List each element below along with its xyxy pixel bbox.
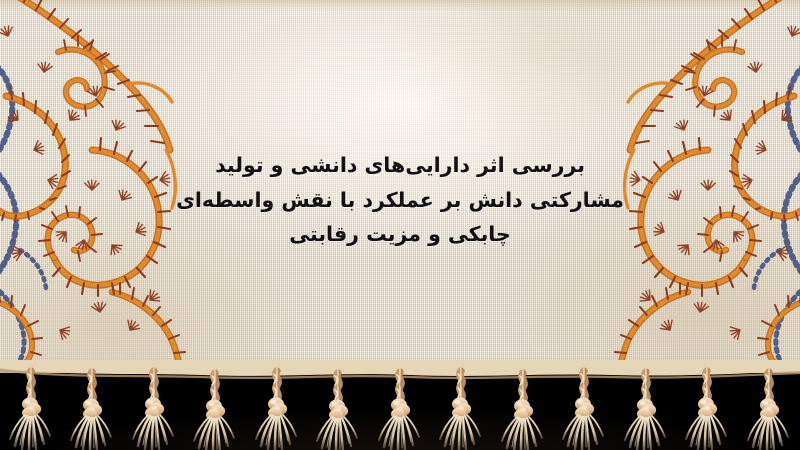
title-line-3: چابکی و مزیت رقابتی (0, 217, 800, 252)
tassel-row (10, 371, 788, 450)
title-line-1: بررسی اثر دارایی‌های دانشی و تولید (0, 148, 800, 183)
title-slide: بررسی اثر دارایی‌های دانشی و تولید مشارک… (0, 0, 800, 450)
slide-title: بررسی اثر دارایی‌های دانشی و تولید مشارک… (0, 148, 800, 252)
title-line-2: مشارکتی دانش بر عملکرد با نقش واسطه‌ای (0, 183, 800, 218)
tassel-fringe (0, 360, 800, 450)
